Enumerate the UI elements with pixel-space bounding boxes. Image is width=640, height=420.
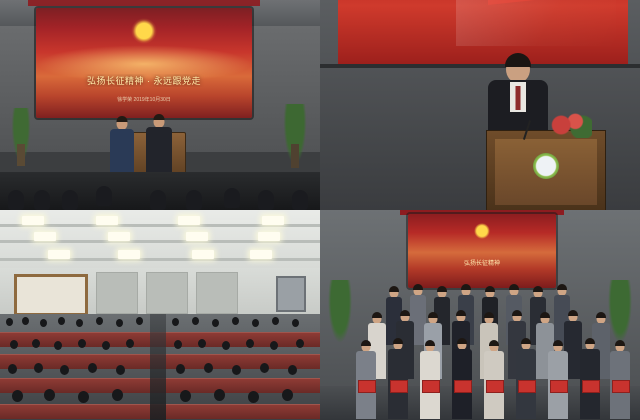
red-banner [28, 0, 260, 6]
screen-title: 弘扬长征精神 [408, 258, 556, 267]
projection-screen: 弘扬长征精神 · 永远跟党走 徐学荣 2019年10月30日 [36, 8, 252, 118]
projection-screen: 畏神仲辈难困苦，地方军阀、国民党反 动 [338, 0, 628, 64]
ceiling [0, 210, 320, 268]
screen-title: 弘扬长征精神 · 永远跟党走 [36, 74, 252, 87]
screen-artwork [456, 0, 616, 46]
certificate [422, 380, 440, 393]
foreground-audience [0, 172, 320, 210]
certificate [582, 380, 600, 393]
speaker-tie [516, 86, 521, 110]
certificate [518, 380, 536, 393]
seating-area [0, 314, 320, 420]
screen-bottom-edge [320, 64, 640, 68]
potted-plant-left-icon [10, 108, 32, 168]
certificate [612, 380, 630, 393]
host-right-body [146, 127, 172, 175]
certificate [550, 380, 568, 393]
speaker-hair [505, 53, 531, 67]
projection-screen: 弘扬长征精神 [408, 214, 556, 288]
potted-plant-right-icon [282, 104, 308, 170]
screen-subtitle: 徐学荣 2019年10月30日 [36, 96, 252, 103]
certificate [390, 380, 408, 393]
pane-audience-hall [0, 210, 320, 420]
podium [486, 130, 606, 210]
host-left [110, 118, 134, 176]
pane-group-award-photo: 弘扬长征精神 [320, 210, 640, 420]
host-left-body [110, 129, 134, 177]
framed-portrait-icon [276, 276, 306, 312]
host-right [146, 116, 172, 176]
certificate [358, 380, 376, 393]
certificate [486, 380, 504, 393]
school-crest-icon [533, 153, 559, 179]
potted-plant-left-icon [326, 280, 354, 350]
wall-board [14, 274, 88, 316]
photo-collage: 弘扬长征精神 · 永远跟党走 徐学荣 2019年10月30日 [0, 0, 640, 420]
pane-speaker-at-podium: 畏神仲辈难困苦，地方军阀、国民党反 动 [320, 0, 640, 210]
flower-arrangement-icon [548, 112, 592, 138]
audience-head-row [0, 176, 320, 210]
party-emblem-icon [473, 222, 491, 240]
party-emblem-icon [131, 18, 157, 44]
pane-stage-two-hosts: 弘扬长征精神 · 永远跟党走 徐学荣 2019年10月30日 [0, 0, 320, 210]
certificate [454, 380, 472, 393]
